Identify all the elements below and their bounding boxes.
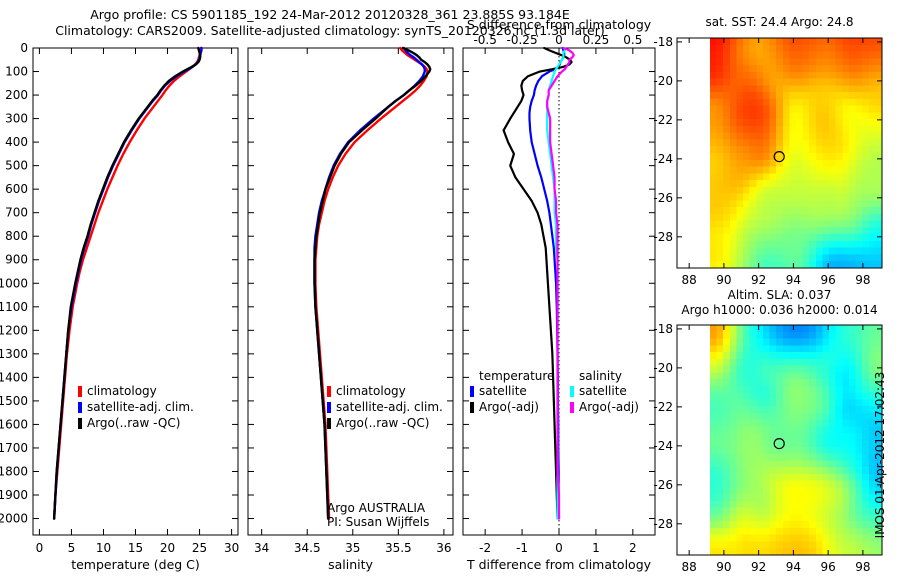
- map-cell: [750, 541, 757, 548]
- map-cell: [717, 440, 724, 447]
- map-cell: [816, 514, 823, 521]
- map-cell: [723, 234, 730, 241]
- map-cell: [862, 541, 869, 548]
- map-cell: [783, 45, 790, 52]
- map-cell: [836, 508, 843, 515]
- map-cell: [750, 227, 757, 234]
- map-cell: [803, 119, 810, 126]
- map-cell: [829, 92, 836, 99]
- map-cell: [723, 487, 730, 494]
- map-cell: [723, 173, 730, 180]
- map-cell: [862, 234, 869, 241]
- map-cell: [763, 467, 770, 474]
- map-cell: [816, 372, 823, 379]
- map-cell: [710, 167, 717, 174]
- map-cell: [736, 433, 743, 440]
- map-cell: [730, 467, 737, 474]
- map-cell: [710, 112, 717, 119]
- map-cell: [816, 393, 823, 400]
- map-cell: [756, 173, 763, 180]
- map-cell: [743, 52, 750, 59]
- map-cell: [763, 393, 770, 400]
- y-tick-label: 100: [5, 65, 28, 79]
- map-cell: [809, 248, 816, 255]
- map-cell: [763, 160, 770, 167]
- map-cell: [803, 494, 810, 501]
- map-cell: [803, 38, 810, 45]
- map-cell: [836, 119, 843, 126]
- map-cell: [783, 146, 790, 153]
- map-cell: [829, 45, 836, 52]
- map-cell: [862, 214, 869, 221]
- map-cell: [822, 501, 829, 508]
- map-cell: [730, 440, 737, 447]
- map-cell: [822, 541, 829, 548]
- map-cell: [822, 474, 829, 481]
- map-cell: [803, 440, 810, 447]
- map-cell: [710, 528, 717, 535]
- map-cell: [756, 352, 763, 359]
- legend-label: satellite: [479, 384, 527, 398]
- map-cell: [789, 187, 796, 194]
- map-cell: [816, 359, 823, 366]
- map-cell: [723, 440, 730, 447]
- map-cell: [736, 372, 743, 379]
- map-cell: [796, 38, 803, 45]
- map-cell: [796, 92, 803, 99]
- map-cell: [822, 79, 829, 86]
- map-y-tick-label: -18: [653, 322, 673, 336]
- map-cell: [776, 85, 783, 92]
- map-cell: [856, 393, 863, 400]
- map-cell: [849, 541, 856, 548]
- map-cell: [829, 241, 836, 248]
- map-cell: [842, 447, 849, 454]
- map-cell: [803, 345, 810, 352]
- map-cell: [822, 214, 829, 221]
- map-x-tick-label: 96: [821, 273, 836, 287]
- map-cell: [803, 173, 810, 180]
- map-cell: [730, 359, 737, 366]
- map-cell: [842, 52, 849, 59]
- map-cell: [783, 501, 790, 508]
- map-cell: [743, 106, 750, 113]
- map-cell: [730, 420, 737, 427]
- map-cell: [756, 454, 763, 461]
- map-cell: [849, 45, 856, 52]
- map-cell: [796, 339, 803, 346]
- map-cell: [717, 339, 724, 346]
- map-cell: [856, 160, 863, 167]
- map-cell: [776, 153, 783, 160]
- map-cell: [862, 112, 869, 119]
- map-cell: [829, 214, 836, 221]
- map-cell: [717, 406, 724, 413]
- map-cell: [803, 126, 810, 133]
- map-cell: [710, 345, 717, 352]
- map-cell: [803, 481, 810, 488]
- provider-name: Argo AUSTRALIA: [327, 501, 426, 515]
- map-cell: [822, 133, 829, 140]
- map-cell: [842, 413, 849, 420]
- map-cell: [842, 38, 849, 45]
- map-cell: [809, 79, 816, 86]
- map-cell: [763, 508, 770, 515]
- map-cell: [796, 345, 803, 352]
- map-cell: [842, 160, 849, 167]
- map-cell: [717, 85, 724, 92]
- map-cell: [862, 79, 869, 86]
- map-cell: [842, 535, 849, 542]
- map-cell: [750, 261, 757, 268]
- map-cell: [822, 65, 829, 72]
- map-cell: [763, 234, 770, 241]
- x-tick-label: 35.5: [385, 541, 412, 555]
- map-cell: [803, 454, 810, 461]
- map-cell: [743, 254, 750, 261]
- map-cell: [816, 420, 823, 427]
- legend-swatch: [570, 402, 574, 413]
- map-cell: [783, 52, 790, 59]
- map-cell: [783, 214, 790, 221]
- map-cell: [730, 58, 737, 65]
- map-cell: [789, 72, 796, 79]
- map-cell: [836, 514, 843, 521]
- map-cell: [809, 433, 816, 440]
- map-cell: [836, 194, 843, 201]
- map-cell: [789, 200, 796, 207]
- map-cell: [829, 508, 836, 515]
- map-cell: [803, 207, 810, 214]
- map-cell: [809, 420, 816, 427]
- map-cell: [803, 508, 810, 515]
- map-cell: [723, 92, 730, 99]
- map-cell: [743, 379, 750, 386]
- map-cell: [796, 248, 803, 255]
- map-cell: [770, 106, 777, 113]
- map-cell: [822, 494, 829, 501]
- map-cell: [710, 447, 717, 454]
- map-cell: [783, 325, 790, 332]
- map-cell: [822, 72, 829, 79]
- x-tick-label-bottom: 0: [555, 541, 563, 555]
- map-cell: [756, 528, 763, 535]
- map-cell: [710, 200, 717, 207]
- map-cell: [809, 58, 816, 65]
- map-cell: [730, 548, 737, 555]
- map-cell: [763, 433, 770, 440]
- map-cell: [789, 399, 796, 406]
- map-cell: [743, 426, 750, 433]
- map-cell: [756, 548, 763, 555]
- map-x-tick-label: 98: [855, 273, 870, 287]
- map-cell: [842, 153, 849, 160]
- map-cell: [783, 467, 790, 474]
- map-cell: [789, 406, 796, 413]
- map-cell: [842, 65, 849, 72]
- map-cell: [770, 214, 777, 221]
- map-cell: [763, 214, 770, 221]
- map-cell: [822, 426, 829, 433]
- map-cell: [763, 106, 770, 113]
- map-cell: [862, 366, 869, 373]
- map-cell: [816, 467, 823, 474]
- map-cell: [789, 173, 796, 180]
- map-cell: [862, 52, 869, 59]
- map-cell: [770, 399, 777, 406]
- map-cell: [743, 79, 750, 86]
- map-cell: [842, 366, 849, 373]
- map-cell: [770, 332, 777, 339]
- map-cell: [730, 261, 737, 268]
- map-cell: [789, 112, 796, 119]
- map-cell: [829, 433, 836, 440]
- map-cell: [816, 180, 823, 187]
- map-cell: [730, 194, 737, 201]
- map-x-tick-label: 90: [716, 560, 731, 574]
- map-cell: [730, 227, 737, 234]
- map-cell: [776, 52, 783, 59]
- map-cell: [783, 528, 790, 535]
- map-cell: [849, 345, 856, 352]
- map-cell: [836, 345, 843, 352]
- map-cell: [783, 352, 790, 359]
- map-cell: [809, 426, 816, 433]
- map-cell: [710, 487, 717, 494]
- x-tick-label: 0: [36, 541, 44, 555]
- map-cell: [849, 406, 856, 413]
- map-cell: [809, 528, 816, 535]
- y-tick-label: 1900: [0, 488, 28, 502]
- map-cell: [803, 413, 810, 420]
- map-cell: [816, 447, 823, 454]
- map-cell: [743, 393, 750, 400]
- map-cell: [796, 65, 803, 72]
- argo-profile-figure: Argo profile: CS 5901185_192 24-Mar-2012…: [0, 0, 900, 580]
- map-cell: [849, 112, 856, 119]
- map-cell: [710, 79, 717, 86]
- map-cell: [756, 180, 763, 187]
- map-cell: [803, 187, 810, 194]
- map-cell: [783, 535, 790, 542]
- map-cell: [756, 200, 763, 207]
- map-cell: [856, 379, 863, 386]
- map-cell: [750, 508, 757, 515]
- map-cell: [750, 45, 757, 52]
- map-cell: [796, 254, 803, 261]
- map-cell: [736, 207, 743, 214]
- map-cell: [862, 146, 869, 153]
- map-cell: [796, 112, 803, 119]
- map-cell: [776, 234, 783, 241]
- map-cell: [730, 167, 737, 174]
- legend-label: satellite: [579, 384, 627, 398]
- map-cell: [730, 332, 737, 339]
- map-cell: [750, 528, 757, 535]
- map-cell: [842, 474, 849, 481]
- map-cell: [803, 133, 810, 140]
- map-cell: [842, 372, 849, 379]
- map-cell: [869, 160, 876, 167]
- map-cell: [730, 79, 737, 86]
- map-cell: [750, 167, 757, 174]
- map-cell: [869, 85, 876, 92]
- map-cell: [770, 241, 777, 248]
- map-cell: [803, 234, 810, 241]
- map-cell: [743, 454, 750, 461]
- map-cell: [776, 359, 783, 366]
- map-cell: [862, 474, 869, 481]
- map-cell: [770, 541, 777, 548]
- map-cell: [809, 379, 816, 386]
- map-cell: [849, 234, 856, 241]
- map-cell: [776, 72, 783, 79]
- map-cell: [822, 440, 829, 447]
- map-cell: [836, 227, 843, 234]
- map-cell: [743, 153, 750, 160]
- map-cell: [776, 535, 783, 542]
- map-cell: [776, 254, 783, 261]
- map-cell: [736, 440, 743, 447]
- map-cell: [750, 112, 757, 119]
- map-cell: [770, 119, 777, 126]
- map-cell: [710, 194, 717, 201]
- map-cell: [776, 227, 783, 234]
- map-cell: [789, 433, 796, 440]
- map-cell: [756, 433, 763, 440]
- map-cell: [743, 440, 750, 447]
- map-cell: [836, 521, 843, 528]
- map-cell: [849, 514, 856, 521]
- map-cell: [803, 447, 810, 454]
- map-cell: [783, 345, 790, 352]
- map-cell: [743, 214, 750, 221]
- y-tick-label: 300: [5, 112, 28, 126]
- map-cell: [723, 467, 730, 474]
- map-cell: [783, 481, 790, 488]
- map-cell: [730, 52, 737, 59]
- map-cell: [730, 146, 737, 153]
- map-cell: [856, 227, 863, 234]
- map-cell: [822, 508, 829, 515]
- map-cell: [796, 173, 803, 180]
- map-cell: [723, 160, 730, 167]
- map-cell: [862, 133, 869, 140]
- map-cell: [776, 261, 783, 268]
- map-cell: [710, 399, 717, 406]
- map-cell: [849, 72, 856, 79]
- map-cell: [829, 325, 836, 332]
- map-cell: [862, 467, 869, 474]
- map-cell: [756, 126, 763, 133]
- map-cell: [743, 501, 750, 508]
- map-cell: [862, 481, 869, 488]
- map-cell: [836, 146, 843, 153]
- map-cell: [763, 133, 770, 140]
- map-cell: [836, 487, 843, 494]
- map-cell: [763, 454, 770, 461]
- map-cell: [809, 352, 816, 359]
- map-cell: [710, 413, 717, 420]
- map-cell: [770, 535, 777, 542]
- map-cell: [829, 399, 836, 406]
- map-cell: [796, 227, 803, 234]
- map-cell: [842, 325, 849, 332]
- map-cell: [842, 207, 849, 214]
- map-cell: [730, 393, 737, 400]
- map-cell: [743, 227, 750, 234]
- map-cell: [763, 386, 770, 393]
- map-cell: [829, 112, 836, 119]
- map-cell: [750, 494, 757, 501]
- map-cell: [796, 221, 803, 228]
- map-cell: [783, 173, 790, 180]
- map-cell: [743, 85, 750, 92]
- map-cell: [756, 521, 763, 528]
- map-cell: [842, 481, 849, 488]
- map-cell: [829, 372, 836, 379]
- map-cell: [796, 359, 803, 366]
- map-cell: [803, 214, 810, 221]
- map-cell: [717, 45, 724, 52]
- map-cell: [776, 386, 783, 393]
- map-cell: [796, 126, 803, 133]
- map-cell: [816, 227, 823, 234]
- map-cell: [783, 386, 790, 393]
- map-cell: [776, 112, 783, 119]
- map-cell: [842, 399, 849, 406]
- map-cell: [829, 187, 836, 194]
- map-cell: [829, 139, 836, 146]
- map-cell: [849, 194, 856, 201]
- map-cell: [756, 481, 763, 488]
- map-cell: [783, 420, 790, 427]
- map-cell: [783, 426, 790, 433]
- map-cell: [829, 194, 836, 201]
- map-cell: [776, 207, 783, 214]
- map-cell: [822, 345, 829, 352]
- y-tick-label: 200: [5, 88, 28, 102]
- map-cell: [736, 92, 743, 99]
- map-cell: [783, 514, 790, 521]
- map-cell: [783, 474, 790, 481]
- map-cell: [750, 359, 757, 366]
- map-cell: [756, 332, 763, 339]
- map-cell: [849, 393, 856, 400]
- map-cell: [796, 501, 803, 508]
- map-cell: [756, 474, 763, 481]
- map-cell: [776, 214, 783, 221]
- map-cell: [756, 339, 763, 346]
- map-cell: [836, 72, 843, 79]
- map-cell: [783, 126, 790, 133]
- map-cell: [809, 200, 816, 207]
- map-cell: [842, 332, 849, 339]
- map-cell: [869, 261, 876, 268]
- map-cell: [756, 241, 763, 248]
- map-cell: [803, 99, 810, 106]
- map-cell: [710, 126, 717, 133]
- map-cell: [822, 379, 829, 386]
- map-cell: [842, 45, 849, 52]
- map-y-tick-label: -18: [653, 35, 673, 49]
- map-cell: [836, 454, 843, 461]
- map-cell: [836, 481, 843, 488]
- map-cell: [836, 548, 843, 555]
- map-cell: [789, 345, 796, 352]
- map-cell: [836, 406, 843, 413]
- map-cell: [770, 413, 777, 420]
